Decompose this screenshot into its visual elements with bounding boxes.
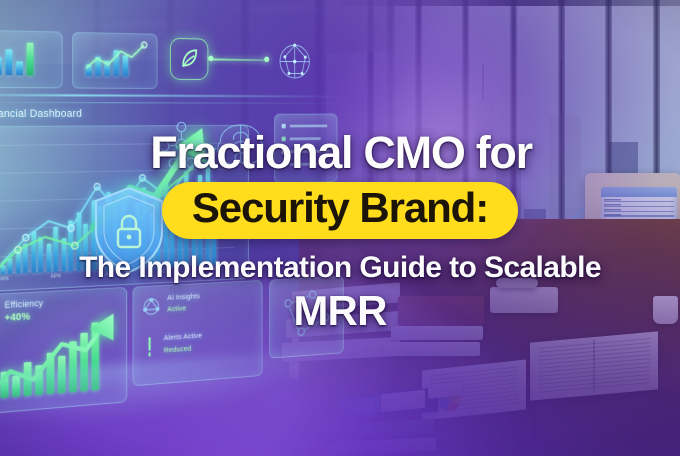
headline-block: Fractional CMO for Security Brand: The I… [0, 130, 680, 332]
headline-line-3: The Implementation Guide to Scalable [0, 252, 680, 284]
headline-line-4: MRR [0, 290, 680, 332]
hero-banner: Financial Dashboard 50 40 30 20 10 0 JAN… [0, 0, 680, 456]
headline-line-1: Fractional CMO for [2, 130, 680, 175]
headline-highlight-pill: Security Brand: [162, 182, 518, 239]
highlight-pill-row: Security Brand: [0, 182, 680, 239]
